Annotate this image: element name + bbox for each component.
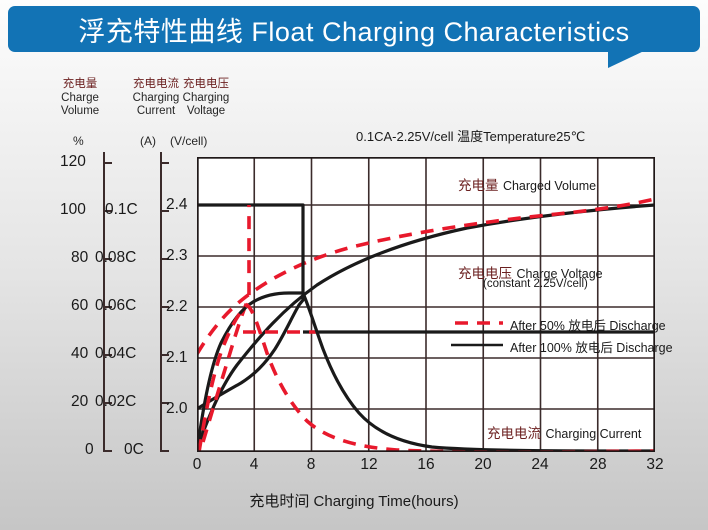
xtick-28: 28	[589, 456, 606, 474]
annotation-sub: (constant 2.25V/cell)	[483, 278, 588, 290]
ytick-volume-40: 40	[71, 345, 88, 363]
legend-item-after-100: After 100% 放电后 Discharge	[510, 337, 673, 356]
xtick-20: 20	[474, 456, 491, 474]
xtick-8: 8	[307, 456, 316, 474]
annotation-en: Charged Volume	[503, 179, 596, 193]
ytick-voltage-23: 2.3	[166, 247, 188, 265]
title-banner: 浮充特性曲线 Float Charging Characteristics	[8, 6, 700, 58]
xtick-24: 24	[531, 456, 548, 474]
ytick-current-004C: 0.04C	[95, 345, 136, 363]
annotation-cn: 充电量	[458, 178, 499, 193]
chart-subtitle: 0.1CA-2.25V/cell 温度Temperature25℃	[356, 126, 585, 145]
ytick-volume-80: 80	[71, 249, 88, 267]
ytick-voltage-24: 2.4	[166, 196, 188, 214]
axis-header-cn: 充电量	[42, 78, 118, 92]
axis-header-en2: Volume	[42, 105, 118, 119]
annotation-en: Charging Current	[545, 427, 641, 441]
axis-header-charging-voltage: 充电电压 Charging Voltage	[168, 78, 244, 119]
ytick-volume-20: 20	[71, 393, 88, 411]
axis-spine-middle	[160, 152, 162, 452]
ytick-volume-60: 60	[71, 297, 88, 315]
legend-item-after-50: After 50% 放电后 Discharge	[510, 315, 666, 334]
unit-charging-current: (A)	[140, 134, 156, 148]
axis-header-en2: Voltage	[168, 105, 244, 119]
legend-label: After 50% 放电后 Discharge	[510, 319, 666, 333]
annotation-charge-voltage-sub: (constant 2.25V/cell)	[483, 278, 588, 290]
annotation-cn: 充电电流	[487, 426, 541, 441]
xtick-16: 16	[417, 456, 434, 474]
xtick-4: 4	[250, 456, 259, 474]
xtick-12: 12	[360, 456, 377, 474]
annotation-charged-volume: 充电量 Charged Volume	[458, 174, 596, 195]
xtick-32: 32	[646, 456, 663, 474]
plot-svg	[197, 157, 655, 452]
plot-area	[197, 157, 655, 452]
ytick-volume-0: 0	[85, 441, 94, 459]
ytick-volume-100: 100	[60, 201, 86, 219]
page-title: 浮充特性曲线 Float Charging Characteristics	[8, 6, 700, 52]
legend-label: After 100% 放电后 Discharge	[510, 341, 673, 355]
unit-charge-volume: %	[73, 134, 84, 148]
ytick-volume-120: 120	[60, 153, 86, 171]
ytick-current-006C: 0.06C	[95, 297, 136, 315]
axis-header-charge-volume: 充电量 Charge Volume	[42, 78, 118, 119]
axis-header-cn: 充电电压	[168, 78, 244, 92]
ytick-current-008C: 0.08C	[95, 249, 136, 267]
ytick-current-01C: 0.1C	[105, 201, 138, 219]
x-axis-title: 充电时间 Charging Time(hours)	[0, 490, 708, 511]
xtick-0: 0	[193, 456, 202, 474]
axis-header-en1: Charging	[168, 92, 244, 106]
annotation-charging-current: 充电电流 Charging Current	[487, 422, 641, 443]
ytick-current-002C: 0.02C	[95, 393, 136, 411]
ytick-voltage-22: 2.2	[166, 298, 188, 316]
axis-header-en1: Charge	[42, 92, 118, 106]
ytick-current-0C: 0C	[124, 441, 144, 459]
ytick-voltage-21: 2.1	[166, 349, 188, 367]
banner-tail	[608, 50, 646, 68]
ytick-voltage-20: 2.0	[166, 400, 188, 418]
unit-charging-voltage: (V/cell)	[170, 134, 207, 148]
